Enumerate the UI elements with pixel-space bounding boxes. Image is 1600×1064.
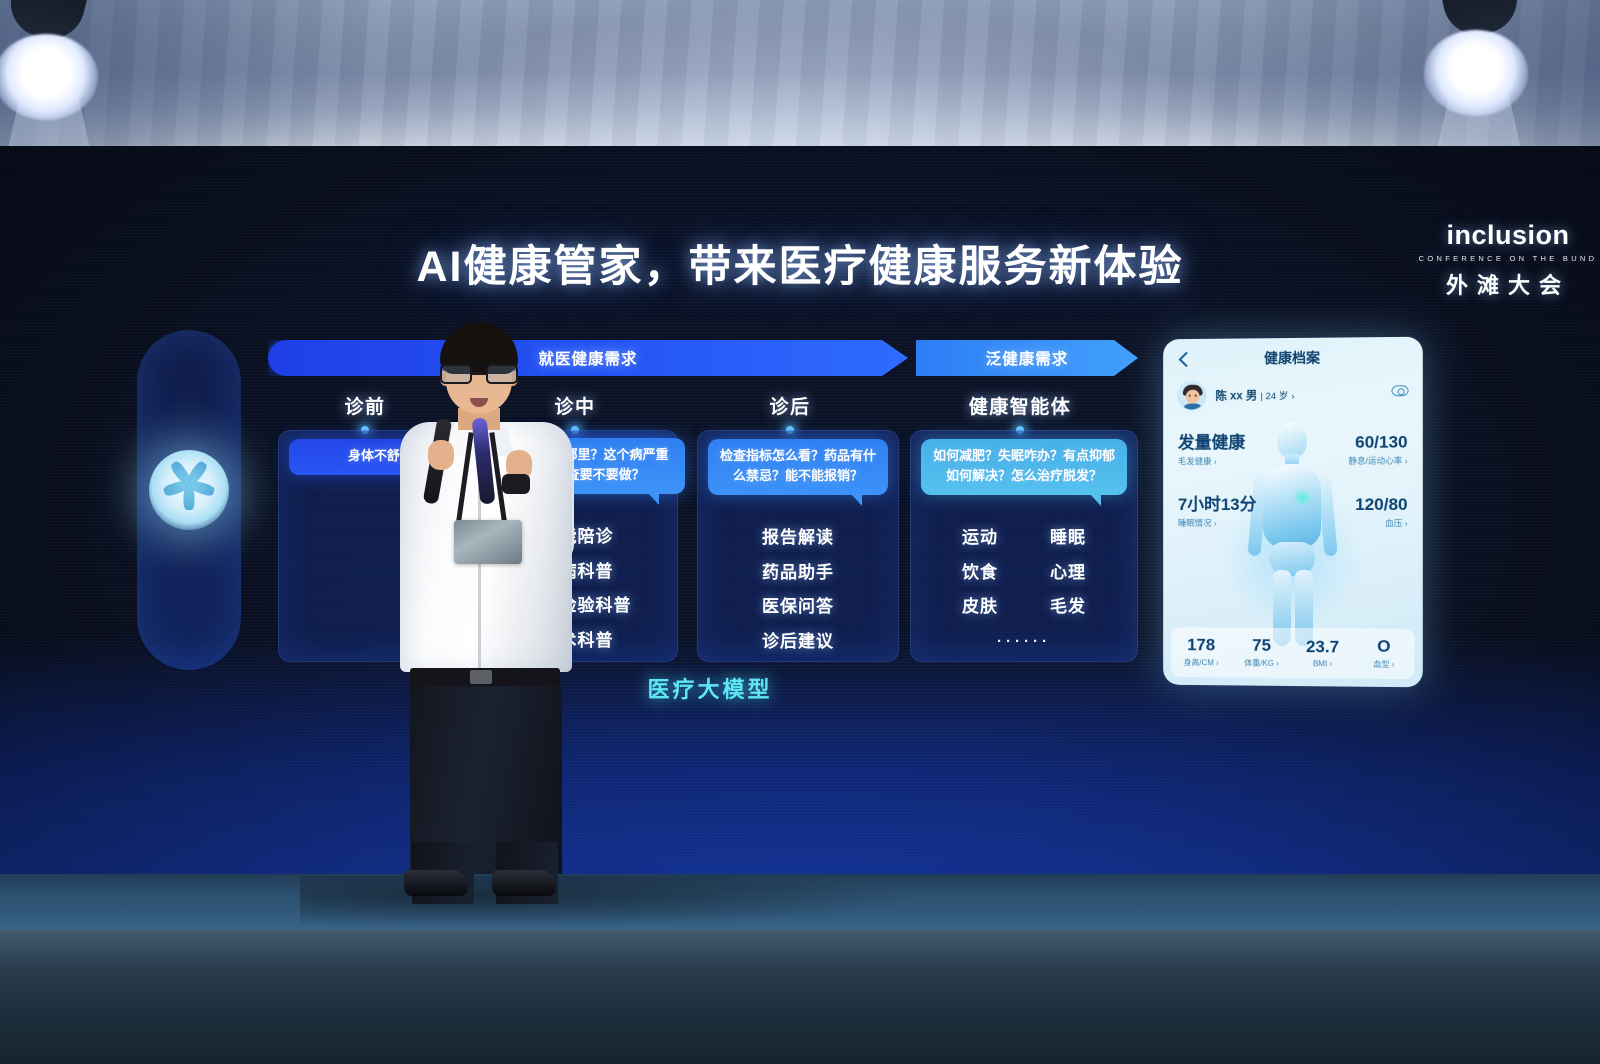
logo-chinese-name: 外滩大会 <box>1418 268 1598 300</box>
stat-blood-pressure[interactable]: 120/80 血压 › <box>1355 496 1407 529</box>
speaker-shoe <box>404 870 468 896</box>
item-list-postdiagnosis: 报告解读 药品助手 医保问答 诊后建议 <box>698 521 898 659</box>
stat-heart-rate[interactable]: 60/130 静息/运动心率 › <box>1349 433 1408 466</box>
item-list-health-agent: 运动 睡眠 饮食 心理 皮肤 毛发 ······ <box>911 521 1137 659</box>
list-item: 饮食 <box>951 556 1009 591</box>
metric-value: 178 <box>1171 636 1231 653</box>
metric-label: 血型 › <box>1353 659 1415 671</box>
speaker-presenter <box>392 322 582 902</box>
metric-value: 75 <box>1231 637 1292 654</box>
list-item: 心理 <box>1039 556 1097 591</box>
medical-large-model-label: 医疗大模型 <box>560 672 860 704</box>
user-name-text: 陈 xx 男 <box>1215 390 1257 402</box>
spotlight-left-icon <box>0 0 108 124</box>
list-row: 运动 睡眠 <box>911 521 1137 556</box>
stat-label: 血压 › <box>1355 517 1407 529</box>
stat-label: 静息/运动心率 › <box>1349 454 1408 466</box>
metric-value: 23.7 <box>1292 638 1353 656</box>
inclusion-logo: inclusion CONFERENCE ON THE BUND 外滩大会 <box>1418 222 1598 300</box>
speaker-hand <box>428 440 454 470</box>
flow-segment-wellness: 泛健康需求 <box>916 340 1138 376</box>
column-header-health-agent: 健康智能体 <box>955 392 1085 420</box>
spotlight-right-icon <box>1418 0 1538 120</box>
stage-front-face <box>0 930 1600 1064</box>
list-item: 皮肤 <box>951 590 1009 625</box>
stat-label: 睡眠情况 › <box>1178 517 1257 529</box>
speaker-watch <box>502 474 530 494</box>
body-metrics-row: 178 身高/CM › 75 体重/KG › 23.7 BMI › O 血型 › <box>1171 627 1415 679</box>
stat-sleep[interactable]: 7小时13分 睡眠情况 › <box>1178 496 1257 529</box>
avatar <box>1177 381 1207 411</box>
metric-weight[interactable]: 75 体重/KG › <box>1231 637 1292 669</box>
logo-wordmark: inclusion <box>1418 222 1598 249</box>
list-item: 毛发 <box>1039 590 1097 625</box>
belt-buckle <box>470 670 492 684</box>
list-row: 饮食 心理 <box>911 556 1137 591</box>
stat-label: 毛发健康 › <box>1178 455 1245 467</box>
stat-hair-health[interactable]: 发量健康 毛发健康 › <box>1178 434 1245 467</box>
list-item: 运动 <box>951 521 1009 556</box>
metric-height[interactable]: 178 身高/CM › <box>1171 636 1231 668</box>
stat-value: 发量健康 <box>1178 434 1245 452</box>
eye-icon[interactable] <box>1391 385 1408 396</box>
panel-health-agent: 如何减肥？失眠咋办？有点抑郁如何解决？怎么治疗脱发？ 运动 睡眠 饮食 心理 皮… <box>910 430 1138 662</box>
app-title: 健康档案 <box>1163 347 1423 369</box>
panel-postdiagnosis: 检查指标怎么看？药品有什么禁忌？能不能报销？ 报告解读 药品助手 医保问答 诊后… <box>697 430 899 662</box>
metric-label: 体重/KG › <box>1231 657 1292 669</box>
list-item: 睡眠 <box>1039 521 1097 556</box>
bubble-postdiagnosis: 检查指标怎么看？药品有什么禁忌？能不能报销？ <box>708 439 888 495</box>
ceiling <box>0 0 1600 152</box>
speaker-glasses <box>440 364 518 384</box>
list-item: 报告解读 <box>698 521 898 556</box>
user-name: 陈 xx 男 | 24 岁 › <box>1215 387 1294 404</box>
stat-value: 120/80 <box>1355 496 1407 514</box>
speaker-badge <box>454 520 522 564</box>
human-body-visualization <box>1233 420 1351 647</box>
conference-stage-photo: AI健康管家，带来医疗健康服务新体验 inclusion CONFERENCE … <box>0 0 1600 1064</box>
list-row: 皮肤 毛发 <box>911 590 1137 625</box>
speaker-shoe <box>492 870 556 896</box>
slide-title: AI健康管家，带来医疗健康服务新体验 <box>0 232 1600 294</box>
stat-value: 60/130 <box>1349 433 1408 451</box>
logo-tagline: CONFERENCE ON THE BUND <box>1418 254 1598 263</box>
stat-value: 7小时13分 <box>1178 496 1257 514</box>
bubble-health-agent: 如何减肥？失眠咋办？有点抑郁如何解决？怎么治疗脱发？ <box>921 439 1127 495</box>
ceiling-haze <box>330 0 1280 150</box>
brand-orb-icon <box>149 450 229 530</box>
decorative-pill-panel <box>137 330 241 670</box>
health-record-app-card: 健康档案 陈 xx 男 | 24 岁 › 发量健康 毛 <box>1163 337 1423 688</box>
metric-bmi[interactable]: 23.7 BMI › <box>1292 638 1353 669</box>
user-age-text: 24 岁 <box>1266 391 1289 402</box>
user-row[interactable]: 陈 xx 男 | 24 岁 › <box>1177 380 1295 411</box>
list-more-indicator: ······ <box>911 625 1137 660</box>
list-item: 医保问答 <box>698 590 898 625</box>
list-item: 诊后建议 <box>698 625 898 660</box>
metric-label: 身高/CM › <box>1171 657 1231 668</box>
flow-segment-clinical: 就医健康需求 <box>268 340 908 376</box>
metric-blood-type[interactable]: O 血型 › <box>1353 637 1415 670</box>
column-header-postdiagnosis: 诊后 <box>730 392 850 420</box>
metric-label: BMI › <box>1292 659 1353 669</box>
list-item: 药品助手 <box>698 556 898 591</box>
metric-value: O <box>1353 637 1415 655</box>
app-header: 健康档案 <box>1163 347 1423 371</box>
